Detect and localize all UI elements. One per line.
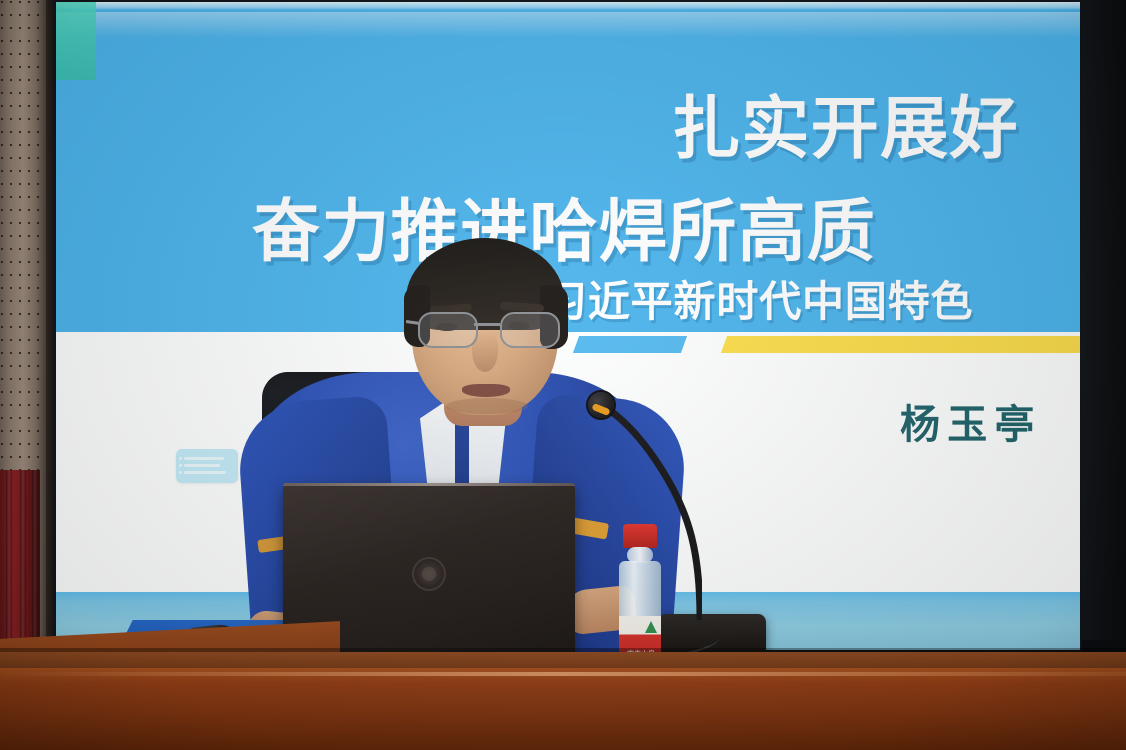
panel-edge <box>46 0 56 646</box>
podium-front-panel <box>0 668 1126 750</box>
podium-highlight <box>0 672 1126 676</box>
slide-top-highlight <box>56 2 1080 10</box>
right-wall <box>1078 0 1126 640</box>
slide-headline-line-2: 奋力推进哈焊所高质 <box>252 176 876 275</box>
laptop-rim <box>283 483 575 486</box>
slide-sheen <box>56 12 1080 38</box>
accent-bar-blue <box>573 336 687 353</box>
slide-headline-line-3: 习近平新时代中国特色 <box>545 268 973 329</box>
slide-list-card <box>176 449 238 483</box>
laptop-brand-logo-icon <box>412 557 446 591</box>
slide-presenter-name: 杨玉亭 <box>900 392 1042 450</box>
slide-headline-line-1: 扎实开展好 <box>672 73 1019 172</box>
bottle-cap <box>623 524 657 548</box>
presentation-photo: 扎实开展好 奋力推进哈焊所高质 习近平新时代中国特色 杨玉亭 <box>0 0 1126 750</box>
accent-bar-yellow <box>721 336 1080 353</box>
accent-bar-green <box>56 2 96 80</box>
